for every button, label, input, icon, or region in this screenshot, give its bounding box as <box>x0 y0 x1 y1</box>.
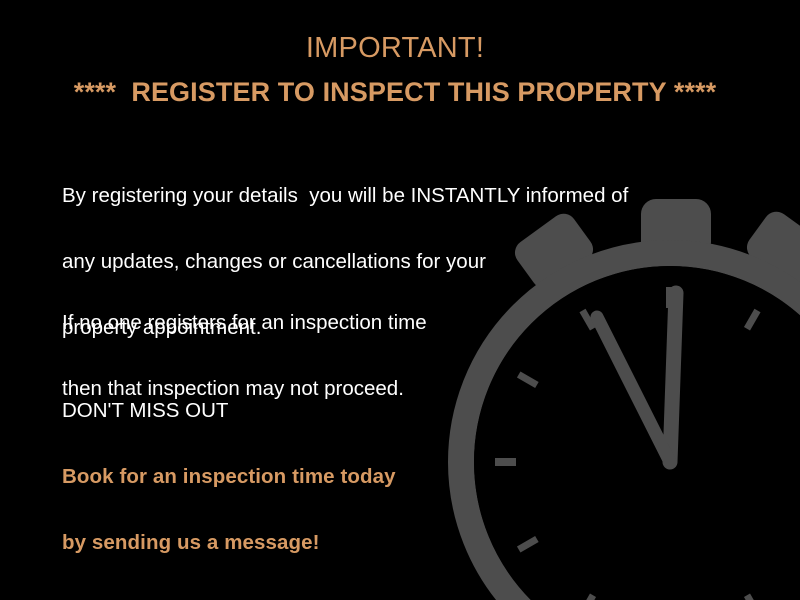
slide-canvas: IMPORTANT! **** REGISTER TO INSPECT THIS… <box>0 0 800 600</box>
intro-line-1: By registering your details you will be … <box>62 181 628 211</box>
paragraph-callout: DON'T MISS OUT Book for an inspection ti… <box>62 360 396 594</box>
heading-important: IMPORTANT! <box>0 31 790 65</box>
heading-register: **** REGISTER TO INSPECT THIS PROPERTY *… <box>0 76 790 109</box>
text-layer: IMPORTANT! **** REGISTER TO INSPECT THIS… <box>0 0 800 600</box>
callout-line-send-message: by sending us a message! <box>62 528 396 558</box>
warning-line-1: If no one registers for an inspection ti… <box>62 308 427 338</box>
callout-line-dont-miss-out: DON'T MISS OUT <box>62 396 396 426</box>
callout-line-book-today: Book for an inspection time today <box>62 462 396 492</box>
